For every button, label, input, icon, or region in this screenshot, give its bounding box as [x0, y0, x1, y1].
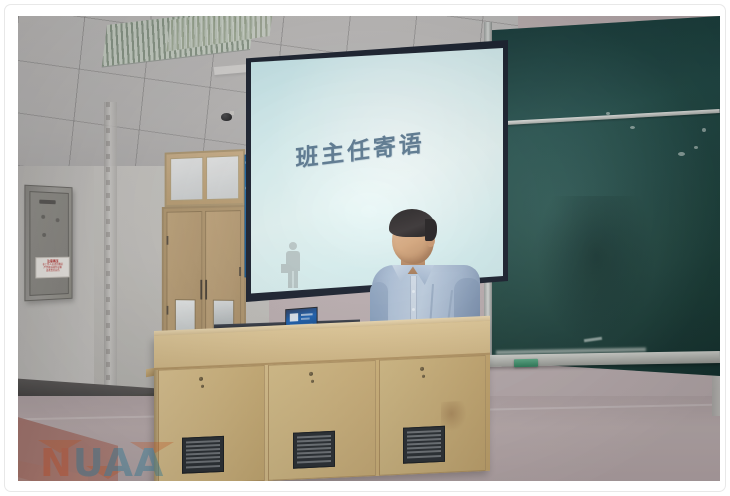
camera-dome: [221, 113, 232, 121]
laptop-screen-line: [301, 317, 310, 319]
chalk-speck: [630, 126, 635, 129]
door-transom-window: [165, 149, 245, 207]
figure-legs: [288, 271, 298, 288]
cabinet-keyhole-icon: [311, 380, 314, 383]
transom-pane: [206, 155, 239, 200]
electrical-panel-face: 注意高压 非工作人员请勿靠近 严禁擅自操作设备 违者责任自负: [29, 191, 68, 296]
cabinet-lock-icon[interactable]: [309, 372, 313, 376]
figure-head: [289, 242, 297, 250]
podium-door-row: [158, 355, 486, 481]
dome-security-camera-icon: [221, 111, 234, 120]
panel-screw: [56, 218, 60, 222]
cabinet-keyhole-icon: [201, 385, 204, 388]
podium-door-1[interactable]: [158, 365, 265, 481]
panel-screw: [41, 215, 45, 219]
door-handle[interactable]: [205, 280, 207, 300]
laptop-screen-window: [290, 313, 298, 321]
figure-briefcase: [281, 264, 288, 273]
shirt-button: [412, 290, 415, 293]
speaker-hair: [389, 209, 436, 237]
podium-door-3[interactable]: [379, 355, 486, 476]
panel-slot: [39, 200, 55, 205]
chalkboard: [488, 16, 720, 376]
podium-cabinet: [154, 321, 490, 481]
door-hinge: [239, 267, 241, 276]
person-with-briefcase-icon: [284, 242, 302, 288]
chalk-speck: [606, 112, 610, 115]
cabinet-keyhole-icon: [422, 375, 425, 378]
classroom-photograph: 注意高压 非工作人员请勿靠近 严禁擅自操作设备 违者责任自负: [18, 16, 720, 481]
cabinet-vent-grille: [293, 431, 335, 469]
panel-screw: [42, 233, 46, 237]
photo-border-frame: 注意高压 非工作人员请勿靠近 严禁擅自操作设备 违者责任自负: [4, 4, 726, 492]
wall-column-seam: [104, 102, 117, 402]
door-hinge: [166, 306, 168, 315]
transom-pane: [170, 157, 203, 201]
chalk-speck: [678, 152, 685, 156]
podium-door-2[interactable]: [268, 360, 375, 481]
slide-title-text: 班主任寄语: [295, 125, 415, 174]
cabinet-lock-icon[interactable]: [199, 377, 203, 381]
chalk-speck: [702, 128, 706, 132]
electrical-panel-box: 注意高压 非工作人员请勿靠近 严禁擅自操作设备 违者责任自负: [24, 185, 72, 302]
door-handle[interactable]: [200, 280, 202, 300]
cabinet-vent-grille: [182, 436, 224, 474]
figure-body: [286, 251, 300, 271]
screenshot-root: 注意高压 非工作人员请勿靠近 严禁擅自操作设备 违者责任自负: [0, 0, 730, 496]
laptop-screen-line: [301, 313, 313, 315]
chalkboard-eraser[interactable]: [514, 359, 538, 367]
shirt-button: [412, 308, 415, 311]
door-hinge: [166, 236, 168, 245]
panel-warning-label: 注意高压 非工作人员请勿靠近 严禁擅自操作设备 违者责任自负: [35, 257, 69, 279]
cabinet-lock-icon[interactable]: [420, 367, 424, 371]
chalkboard-smudge: [536, 196, 656, 346]
panel-warning-line-3: 违者责任自负: [46, 269, 60, 272]
chalk-speck: [694, 146, 698, 149]
cabinet-vent-grille: [403, 426, 445, 464]
